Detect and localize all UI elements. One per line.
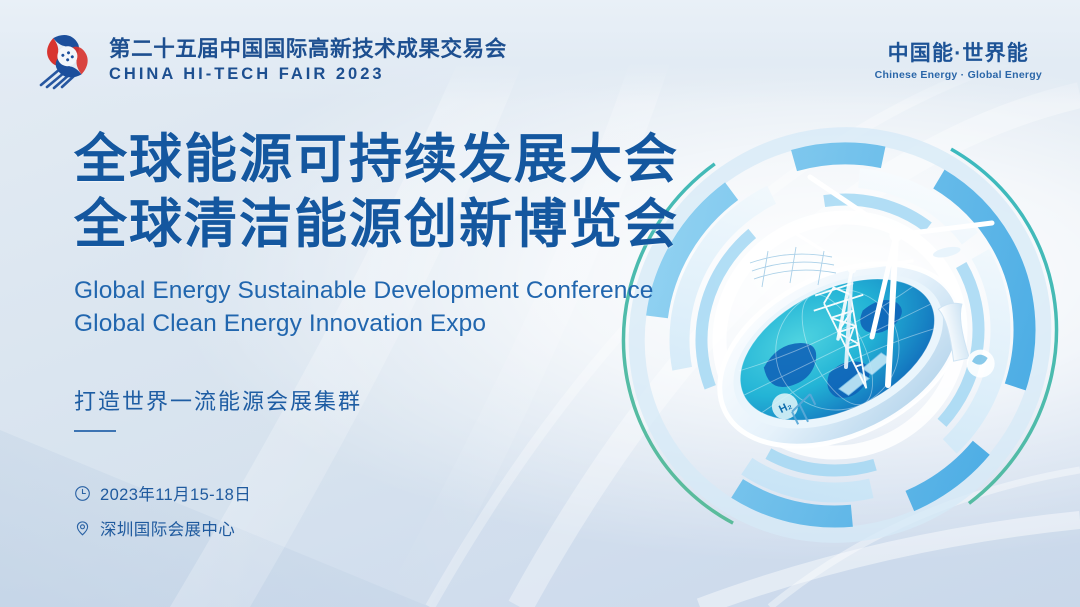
tagline: 打造世界一流能源会展集群	[74, 384, 774, 416]
event-location-row: 深圳国际会展中心	[74, 516, 251, 540]
fair-name-cn: 第二十五届中国国际高新技术成果交易会	[109, 37, 507, 61]
main-copy: 全球能源可持续发展大会 全球清洁能源创新博览会 Global Energy Su…	[74, 128, 774, 432]
event-date: 2023年11月15-18日	[100, 481, 251, 505]
hi-tech-fair-swirl-logo-icon	[38, 29, 98, 91]
map-pin-icon	[74, 520, 91, 537]
clock-icon	[74, 485, 91, 502]
subtitle-en-line-2: Global Clean Energy Innovation Expo	[74, 308, 774, 340]
fair-branding: 第二十五届中国国际高新技术成果交易会 CHINA HI-TECH FAIR 20…	[38, 29, 507, 91]
tagline-rule	[74, 430, 116, 432]
event-date-row: 2023年11月15-18日	[74, 481, 251, 505]
subtitle-en-line-1: Global Energy Sustainable Development Co…	[74, 275, 774, 307]
headline-line-2: 全球清洁能源创新博览会	[74, 193, 774, 258]
event-meta: 2023年11月15-18日 深圳国际会展中心	[74, 481, 251, 540]
fair-name-en: CHINA HI-TECH FAIR 2023	[109, 64, 507, 85]
headline-line-1: 全球能源可持续发展大会	[74, 128, 774, 193]
promotional-banner: 第二十五届中国国际高新技术成果交易会 CHINA HI-TECH FAIR 20…	[0, 0, 1080, 607]
event-location: 深圳国际会展中心	[100, 516, 235, 540]
